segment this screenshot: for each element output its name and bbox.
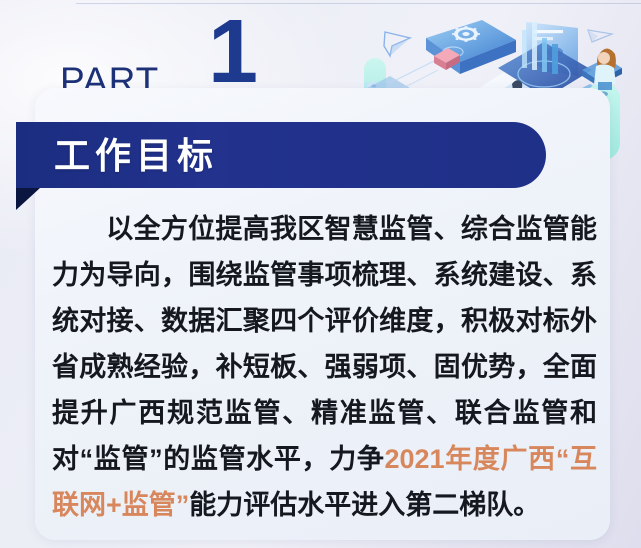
body-paragraph: 以全方位提高我区智慧监管、综合监管能力为导向，围绕监管事项梳理、系统建设、系统对…	[52, 206, 597, 528]
part-number: 1	[208, 14, 258, 91]
section-title: 工作目标	[54, 134, 218, 178]
paragraph-part-2: 能力评估水平进入第二梯队。	[189, 490, 540, 520]
slide-canvas: PART 1 工作目标 以全方位提高我区智慧监管、综合监管能力为导向，围绕监管事…	[0, 0, 641, 548]
paper-plane-icon	[384, 32, 410, 56]
seated-person-right	[594, 48, 616, 90]
paper-plane-icon-2	[588, 30, 612, 42]
banner-fold-corner	[16, 188, 40, 210]
paragraph-part-1: 以全方位提高我区智慧监管、综合监管能力为导向，围绕监管事项梳理、系统建设、系统对…	[52, 214, 597, 474]
